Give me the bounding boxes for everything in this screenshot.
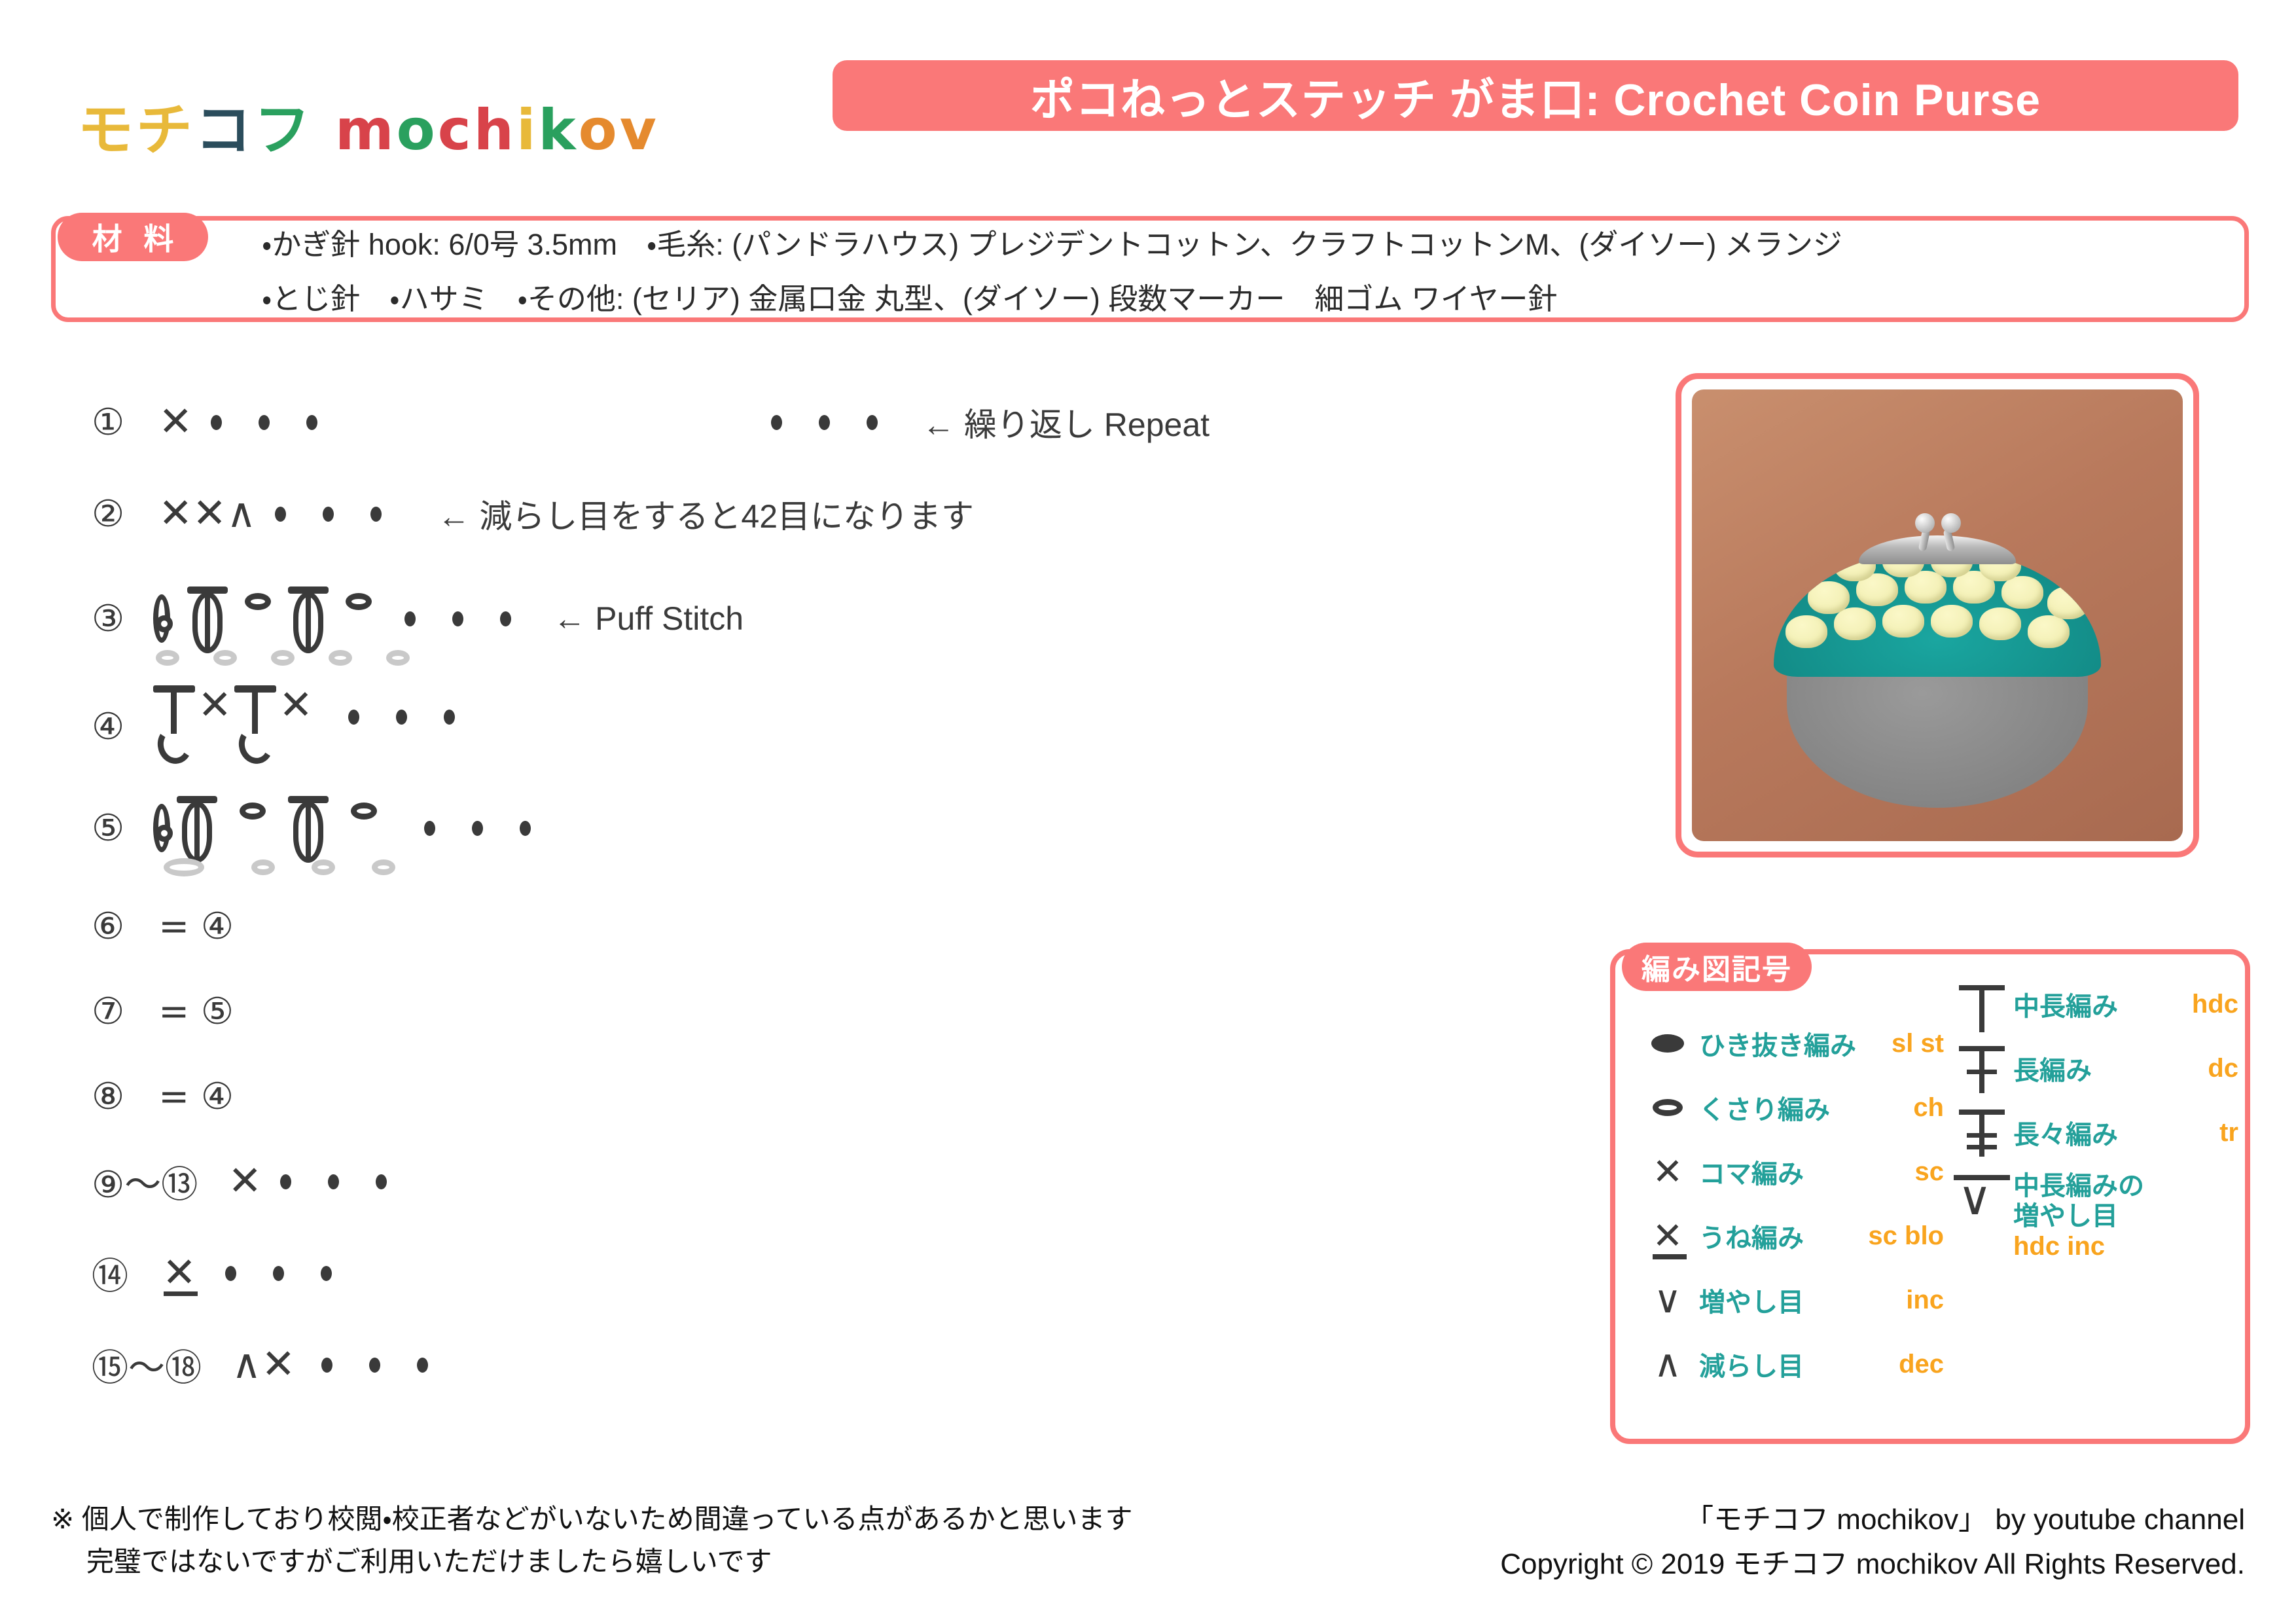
legend-item-sl-st: ひき抜き編み sl st: [1636, 1011, 1944, 1075]
credit-line-2: Copyright © 2019 モチコフ mochikov All Right…: [1500, 1542, 2245, 1587]
row-number: ⑨〜⑬: [92, 1155, 198, 1208]
product-photo-frame: [1676, 373, 2199, 857]
row-number: ②: [92, 493, 124, 535]
double-crochet-icon: [1950, 1041, 2013, 1096]
legend-label-en: sl st: [1880, 1029, 1944, 1058]
pattern-row-6: ⑥ = ④: [92, 897, 234, 956]
row-number: ⑦: [92, 990, 124, 1033]
row-number: ④: [92, 706, 124, 748]
purse-top: [1774, 552, 2101, 677]
chain-icon: [312, 859, 335, 875]
legend-label-jp: コマ編み: [1699, 1153, 1804, 1191]
chain-icon: [251, 859, 275, 875]
legend-item-ch: くさり編み ch: [1636, 1075, 1944, 1140]
repeat-dots: [192, 415, 336, 430]
hdc-front-post-icon: [234, 685, 276, 768]
materials-line-1: ・かぎ針 hook: 6/0号 3.5mm ・毛糸: (パンドラハウス) プレジ…: [262, 221, 1842, 263]
half-double-crochet-icon: [1950, 980, 2013, 1028]
decrease-icon: ∧: [226, 494, 256, 534]
legend-label-en: hdc: [2180, 990, 2238, 1019]
hdc-increase-icon: ∨: [1950, 1171, 2013, 1231]
clasp-knob-left: [1915, 513, 1935, 533]
disclaimer-line-1: ※ 個人で制作しており校閲・校正者などがいないため間違っている点があるかと思いま…: [51, 1498, 1133, 1540]
legend-label-en: ch: [1901, 1093, 1944, 1123]
legend-label-jp: 中長編み: [2013, 985, 2118, 1023]
copyright: 「モチコフ mochikov」 by youtube channel Copyr…: [1500, 1498, 2245, 1587]
single-crochet-icon: ✕: [192, 494, 226, 534]
coin-purse-photo: [1692, 389, 2183, 841]
legend-label-en: sc: [1903, 1157, 1945, 1187]
row-number: ⑧: [92, 1075, 124, 1118]
single-crochet-icon: ✕: [228, 1161, 262, 1202]
chain-icon: [329, 650, 352, 666]
repeat-dots: [257, 507, 400, 522]
decrease-icon: ∧: [232, 1344, 261, 1385]
sc-back-loop-icon: ✕: [1636, 1218, 1699, 1254]
chain-icon: [240, 803, 266, 820]
pattern-row-4: ④ ✕ ✕: [92, 674, 473, 779]
single-crochet-icon: ✕: [279, 685, 313, 726]
legend-item-dc: 長編み dc: [1950, 1036, 2238, 1100]
chain-icon: [346, 593, 372, 610]
chain-icon: [245, 593, 271, 610]
pattern-row-5-foundation: [164, 838, 395, 897]
repeat-dots: [386, 611, 529, 626]
legend-label-jp: くさり編み: [1699, 1089, 1830, 1127]
repeat-dots: [330, 710, 473, 725]
legend-label-jp: 長々編み: [2013, 1113, 2118, 1151]
pattern-row-1-tail: ← 繰り返し Repeat: [753, 393, 1210, 452]
puff-note: ← Puff Stitch: [553, 600, 744, 638]
row-number: ⑥: [92, 905, 124, 948]
slip-stitch-icon: [1636, 1034, 1699, 1053]
pattern-row-15-18: ⑮〜⑱ ∧ ✕: [92, 1335, 446, 1394]
single-crochet-icon: ✕: [158, 402, 192, 442]
increase-icon: ∨: [1636, 1281, 1699, 1319]
pattern-row-7: ⑦ = ⑤: [92, 982, 234, 1041]
materials-line-2: ・とじ針 ・ハサミ ・その他: (セリア) 金属口金 丸型、(ダイソー) 段数マ…: [262, 275, 1558, 317]
legend-item-hdc: 中長編み hdc: [1950, 972, 2238, 1036]
repeat-dots: [262, 1174, 405, 1189]
materials-badge: 材 料: [58, 213, 208, 261]
legend-label-en: dc: [2196, 1054, 2238, 1083]
chain-icon: [271, 650, 295, 666]
row-number: ⑮〜⑱: [92, 1339, 202, 1392]
repeat-dots: [406, 821, 549, 836]
chain-icon: [156, 650, 179, 666]
hdc-front-post-icon: [153, 685, 195, 768]
credit-line-1: 「モチコフ mochikov」 by youtube channel: [1500, 1498, 2245, 1542]
legend-item-sc-blo: ✕ うね編み sc blo: [1636, 1204, 1944, 1268]
pattern-row-1: ① ✕: [92, 393, 336, 452]
row-number: ⑭: [92, 1247, 128, 1300]
legend-column-right: 中長編み hdc 長編み dc 長々編み tr ∨ 中長編みの 増やし目 hdc: [1950, 972, 2238, 1269]
legend-item-dec: ∧ 減らし目 dec: [1636, 1332, 1944, 1396]
legend-label-jp-line2: 増やし目: [2013, 1201, 2144, 1231]
pattern-row-8: ⑧ = ④: [92, 1067, 234, 1126]
chain-icon: [372, 859, 395, 875]
legend-badge: 編み図記号: [1622, 943, 1812, 991]
row-number: ①: [92, 401, 124, 444]
treble-crochet-icon: [1950, 1104, 2013, 1161]
row-equals: = ⑤: [158, 990, 234, 1033]
chain-icon: [1636, 1099, 1699, 1116]
legend-label-jp: ひき抜き編み: [1699, 1024, 1856, 1062]
page-title: ポコねっとステッチ がま口: Crochet Coin Purse: [1030, 63, 2041, 128]
repeat-dots: [207, 1266, 350, 1281]
legend-item-hdc-inc: ∨ 中長編みの 増やし目 hdc inc: [1950, 1164, 2238, 1269]
clasp-knob-right: [1941, 513, 1961, 533]
chain-icon: [213, 650, 237, 666]
legend-item-sc: ✕ コマ編み sc: [1636, 1140, 1944, 1204]
legend-label-en: dec: [1887, 1350, 1944, 1379]
brand-logo: モチコフmochikov: [77, 84, 659, 166]
legend-column-left: ひき抜き編み sl st くさり編み ch ✕ コマ編み sc ✕ うね編み s…: [1636, 1011, 1944, 1396]
legend-label-en: hdc inc: [2013, 1231, 2144, 1261]
sc-back-loop-icon: ✕: [162, 1253, 196, 1293]
legend-label-jp-line1: 中長編みの: [2013, 1171, 2144, 1201]
row-number: ⑤: [92, 807, 124, 850]
single-crochet-icon: ✕: [158, 494, 192, 534]
repeat-dots: [753, 415, 896, 430]
disclaimer-line-2: 完璧ではないですがご利用いただけましたら嬉しいです: [86, 1540, 1133, 1583]
title-banner: ポコねっとステッチ がま口: Crochet Coin Purse: [833, 60, 2238, 131]
chain-icon: [164, 858, 204, 876]
repeat-dots: [303, 1358, 446, 1373]
legend-item-inc: ∨ 増やし目 inc: [1636, 1268, 1944, 1332]
disclaimer: ※ 個人で制作しており校閲・校正者などがいないため間違っている点があるかと思いま…: [51, 1498, 1133, 1583]
chain-icon: [386, 650, 410, 666]
legend-label-jp: 長編み: [2013, 1049, 2092, 1087]
chain-icon: [351, 803, 377, 820]
legend-label-en: inc: [1894, 1286, 1944, 1315]
row-number: ③: [92, 598, 124, 640]
pattern-row-14: ⑭ ✕: [92, 1244, 350, 1303]
row-equals: = ④: [158, 1075, 234, 1118]
legend-label-jp: 減らし目: [1699, 1345, 1804, 1383]
legend-label-jp: 増やし目: [1699, 1281, 1804, 1319]
pattern-row-9-13: ⑨〜⑬ ✕: [92, 1152, 405, 1211]
coin-purse-illustration: [1754, 507, 2121, 814]
pattern-sheet: モチコフmochikov ポコねっとステッチ がま口: Crochet Coin…: [0, 0, 2296, 1624]
decrease-note: ← 減らし目をすると42目になります: [438, 490, 975, 537]
single-crochet-icon: ✕: [261, 1344, 295, 1385]
single-crochet-icon: ✕: [198, 685, 232, 726]
legend-label-jp: うね編み: [1699, 1217, 1804, 1255]
pattern-row-2: ② ✕ ✕ ∧ ← 減らし目をすると42目になります: [92, 484, 974, 543]
decrease-icon: ∧: [1636, 1345, 1699, 1383]
purse-clasp: [1859, 535, 2016, 564]
legend-item-tr: 長々編み tr: [1950, 1100, 2238, 1164]
row-equals: = ④: [158, 905, 234, 948]
legend-label-en: sc blo: [1856, 1221, 1944, 1251]
single-crochet-icon: ✕: [1636, 1153, 1699, 1190]
legend-label-en: tr: [2208, 1118, 2238, 1147]
repeat-note: ← 繰り返し Repeat: [922, 399, 1210, 446]
